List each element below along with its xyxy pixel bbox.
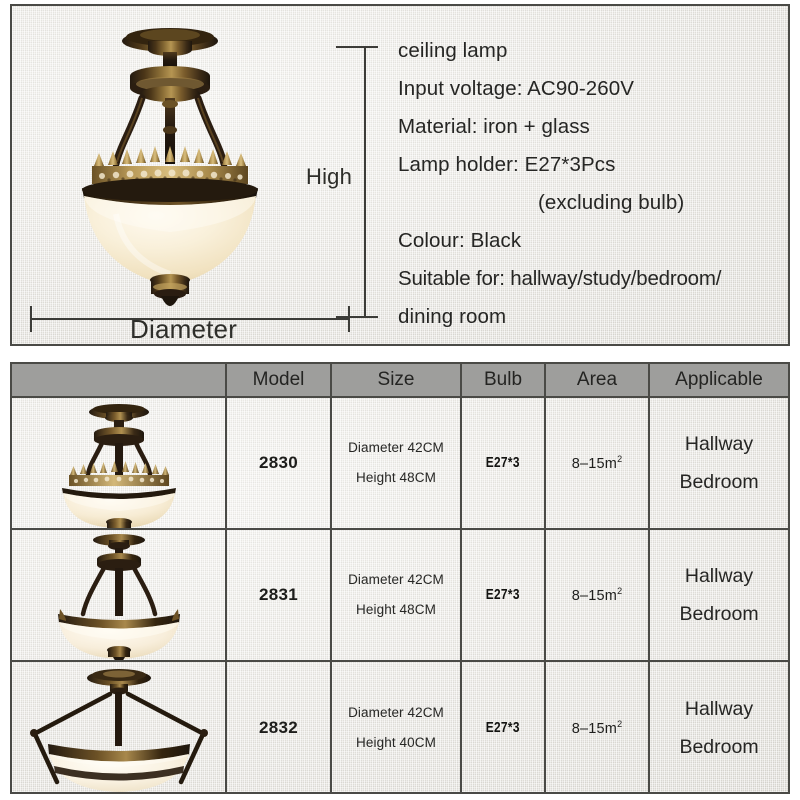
hero-spec-panel: High Diameter ceiling lamp Input voltage… [10,4,790,346]
spec-line-material: Material: iron + glass [398,108,790,146]
spec-line-input-voltage: Input voltage: AC90-260V [398,70,790,108]
spec-line-colour: Colour: Black [398,222,790,260]
row-area-2832: 8–15m2 [546,662,650,794]
row-applicable-2832: Hallway Bedroom [650,662,788,794]
row-bulb-2832: E27*3 [462,662,546,794]
applicable-line-1: Hallway [685,690,753,728]
spec-line-suitable-for-cont: dining room [398,298,790,336]
row-applicable-2831: Hallway Bedroom [650,530,788,660]
area-value: 8–15m2 [572,454,623,472]
row-area-2831: 8–15m2 [546,530,650,660]
spec-line-product-type: ceiling lamp [398,32,790,70]
row-product-image-2831 [12,530,227,660]
spec-line-excluding-bulb: (excluding bulb) [398,184,790,222]
applicable-line-1: Hallway [685,557,753,595]
model-comparison-table: Model Size Bulb Area Applicable [10,362,790,794]
column-header-bulb: Bulb [462,364,546,396]
height-dimension-line [352,46,378,318]
bulb-value: E27*3 [486,587,520,603]
column-header-model: Model [227,364,332,396]
row-area-2830: 8–15m2 [546,398,650,528]
row-model-2832: 2832 [227,662,332,794]
row-model-2830: 2830 [227,398,332,528]
row-bulb-2830: E27*3 [462,398,546,528]
area-value: 8–15m2 [572,719,623,737]
bulb-value: E27*3 [486,720,520,736]
bulb-value: E27*3 [486,455,520,471]
height-dimension-label: High [306,164,352,190]
model-value: 2831 [259,585,298,605]
size-height: Height 48CM [356,595,436,625]
size-diameter: Diameter 42CM [348,565,444,595]
applicable-line-1: Hallway [685,425,753,463]
size-diameter: Diameter 42CM [348,433,444,463]
diameter-dimension-label: Diameter [130,314,237,345]
column-header-area: Area [546,364,650,396]
row-model-2831: 2831 [227,530,332,660]
specification-list: ceiling lamp Input voltage: AC90-260V Ma… [398,32,790,336]
table-row: 2830 Diameter 42CM Height 48CM E27*3 8–1… [12,398,788,530]
table-header-row: Model Size Bulb Area Applicable [12,364,788,398]
row-product-image-2830 [12,398,227,528]
model-value: 2832 [259,718,298,738]
size-height: Height 48CM [356,463,436,493]
row-bulb-2831: E27*3 [462,530,546,660]
column-header-size: Size [332,364,462,396]
applicable-line-2: Bedroom [679,463,758,501]
spec-line-lamp-holder: Lamp holder: E27*3Pcs [398,146,790,184]
applicable-line-2: Bedroom [679,595,758,633]
model-value: 2830 [259,453,298,473]
row-applicable-2830: Hallway Bedroom [650,398,788,528]
row-size-2832: Diameter 42CM Height 40CM [332,662,462,794]
row-size-2831: Diameter 42CM Height 48CM [332,530,462,660]
size-diameter: Diameter 42CM [348,698,444,728]
size-height: Height 40CM [356,728,436,758]
column-header-photo [12,364,227,396]
row-product-image-2832 [12,662,227,794]
hero-product-image [20,18,320,318]
table-row: 2832 Diameter 42CM Height 40CM E27*3 8–1… [12,662,788,794]
column-header-applicable: Applicable [650,364,788,396]
table-row: 2831 Diameter 42CM Height 48CM E27*3 8–1… [12,530,788,662]
applicable-line-2: Bedroom [679,728,758,766]
area-value: 8–15m2 [572,586,623,604]
spec-line-suitable-for: Suitable for: hallway/study/bedroom/ [398,260,790,298]
row-size-2830: Diameter 42CM Height 48CM [332,398,462,528]
